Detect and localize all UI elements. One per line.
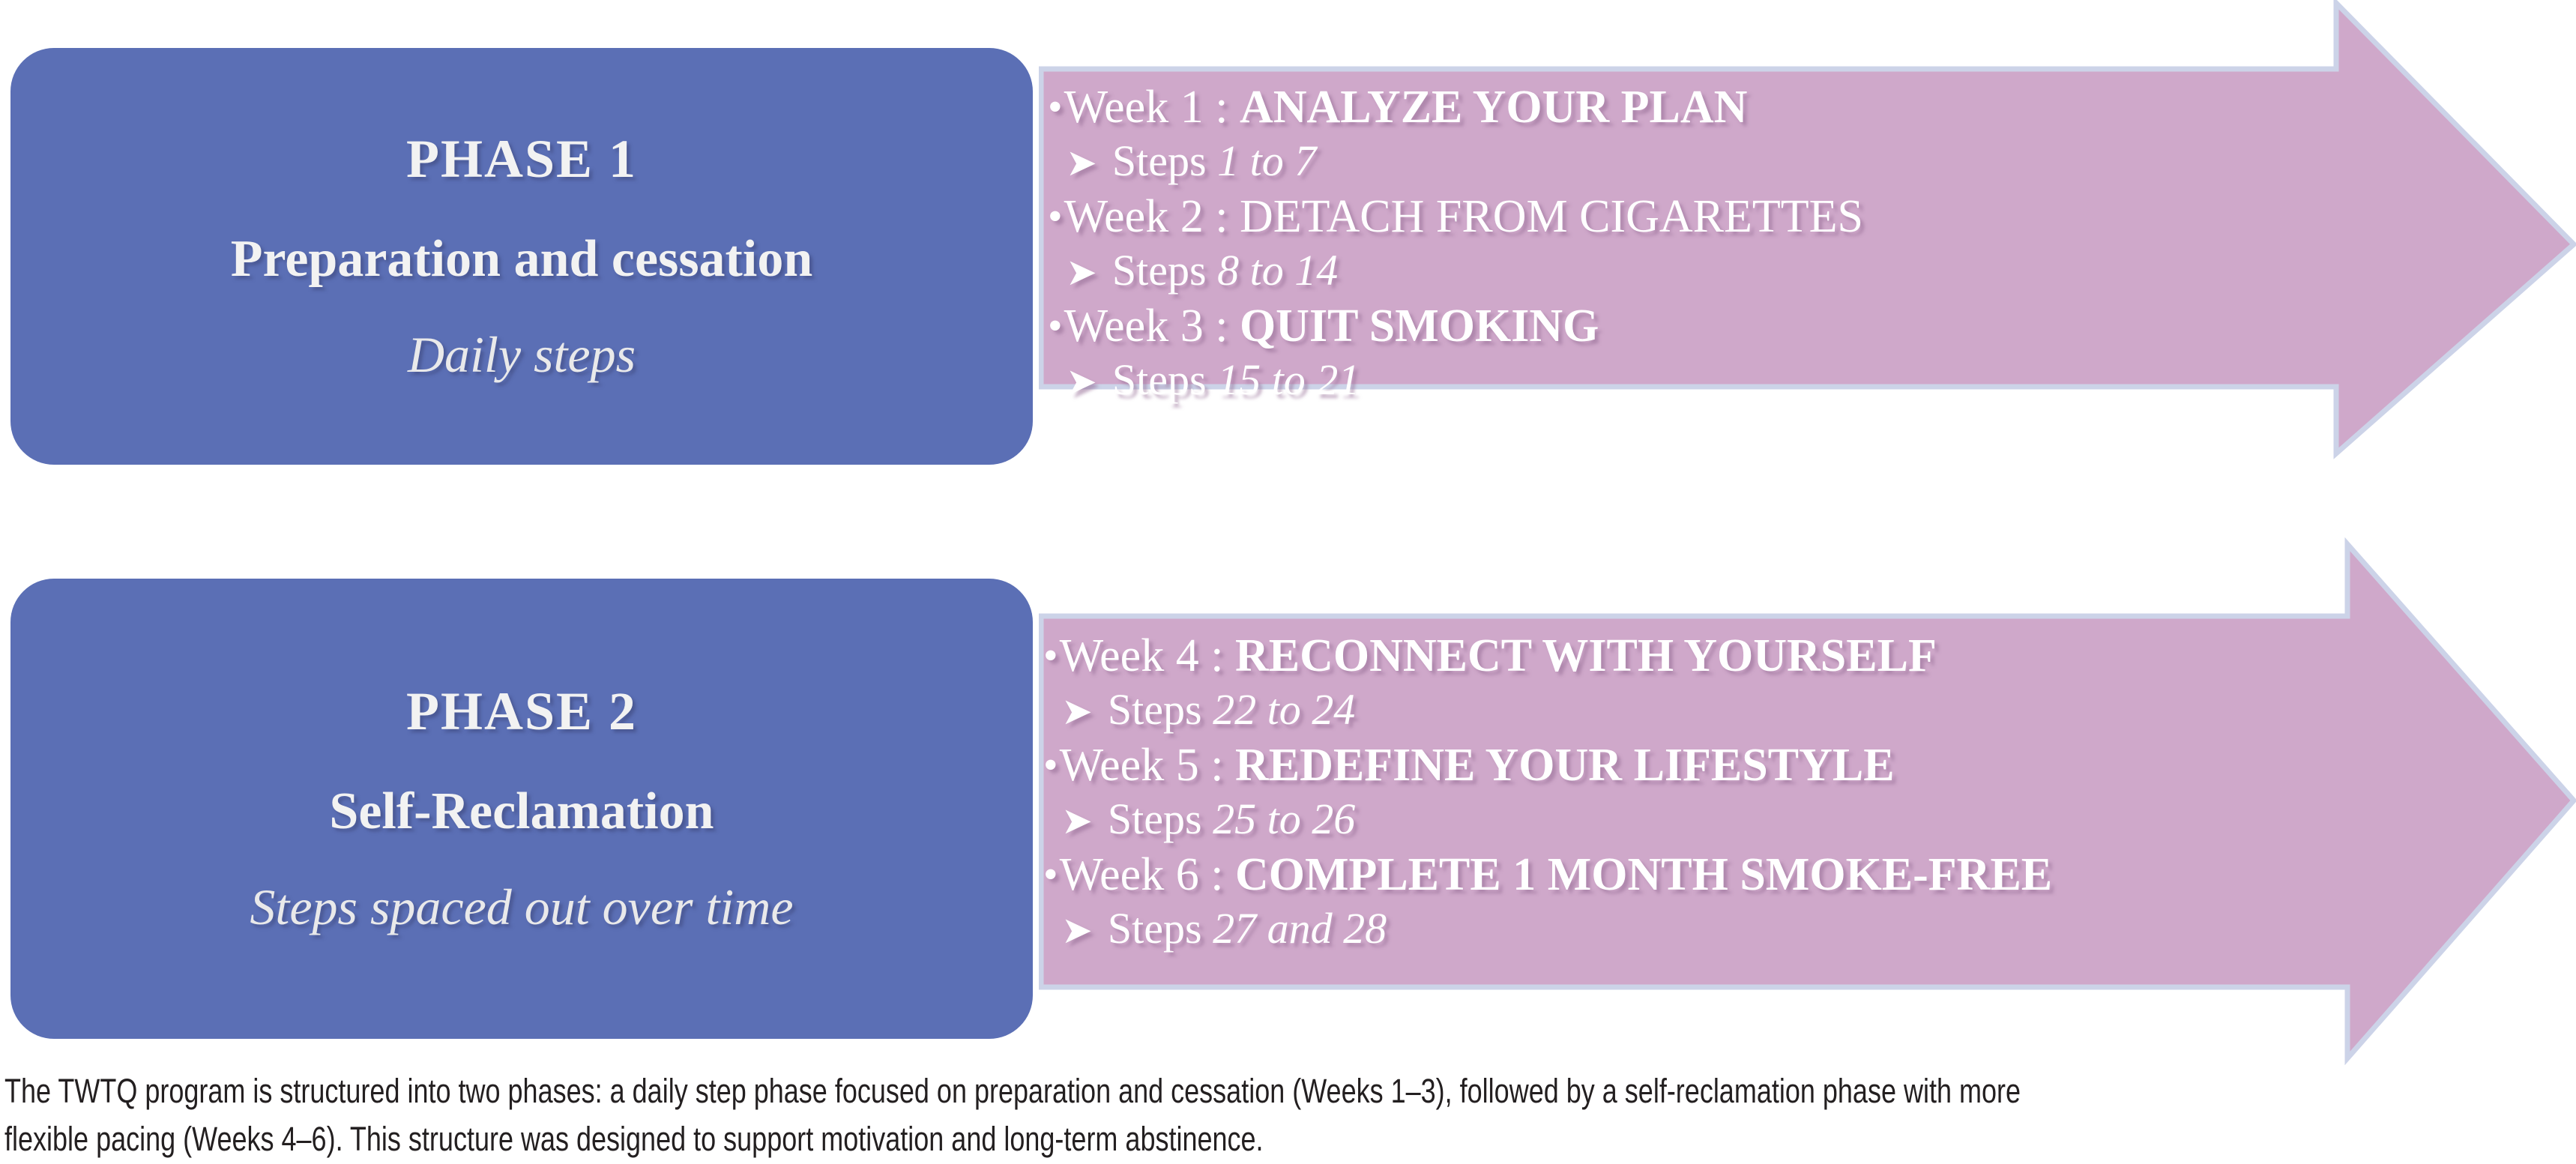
phase-1-box: PHASE 1 Preparation and cessation Daily … <box>10 48 1033 465</box>
week-item: •Week 6 : COMPLETE 1 MONTH SMOKE-FREE <box>1043 851 2347 898</box>
steps-prefix: Steps <box>1108 685 1213 734</box>
chevron-right-icon: ➤ <box>1061 800 1093 842</box>
week-title: QUIT SMOKING <box>1240 301 1599 352</box>
week-title: RECONNECT WITH YOURSELF <box>1235 630 1937 681</box>
steps-range: 8 to 14 <box>1217 246 1338 295</box>
bullet-icon: • <box>1048 303 1063 349</box>
steps-item: ➤Steps 25 to 26 <box>1043 797 2347 841</box>
week-item: •Week 1 : ANALYZE YOUR PLAN <box>1048 84 2322 130</box>
phase-1-subtitle: Preparation and cessation <box>231 230 813 289</box>
week-title: REDEFINE YOUR LIFESTYLE <box>1235 740 1895 791</box>
phase-2-note: Steps spaced out over time <box>250 878 793 935</box>
week-label: Week 1 : <box>1064 82 1240 133</box>
chevron-right-icon: ➤ <box>1066 361 1097 402</box>
bullet-icon: • <box>1043 633 1058 679</box>
week-item: •Week 5 : REDEFINE YOUR LIFESTYLE <box>1043 742 2347 788</box>
week-item: •Week 2 : DETACH FROM CIGARETTES <box>1048 193 2322 240</box>
phase-2-box: PHASE 2 Self-Reclamation Steps spaced ou… <box>10 579 1033 1039</box>
week-item: •Week 3 : QUIT SMOKING <box>1048 303 2322 349</box>
bullet-icon: • <box>1048 84 1063 130</box>
figure-caption: The TWTQ program is structured into two … <box>4 1067 2055 1163</box>
steps-prefix: Steps <box>1108 904 1213 953</box>
week-label: Week 4 : <box>1060 630 1235 681</box>
week-label: Week 3 : <box>1064 301 1240 352</box>
chevron-right-icon: ➤ <box>1061 690 1093 732</box>
steps-range: 25 to 26 <box>1213 794 1355 843</box>
week-title: ANALYZE YOUR PLAN <box>1240 82 1748 133</box>
steps-item: ➤Steps 22 to 24 <box>1043 688 2347 732</box>
steps-item: ➤Steps 15 to 21 <box>1048 358 2322 402</box>
steps-range: 1 to 7 <box>1217 136 1316 185</box>
steps-prefix: Steps <box>1112 246 1217 295</box>
week-label: Week 2 : <box>1064 191 1240 242</box>
steps-prefix: Steps <box>1108 794 1213 843</box>
phase-1-title: PHASE 1 <box>406 129 637 190</box>
steps-item: ➤Steps 8 to 14 <box>1048 249 2322 292</box>
steps-range: 27 and 28 <box>1213 904 1387 953</box>
bullet-icon: • <box>1043 742 1058 788</box>
steps-range: 22 to 24 <box>1213 685 1355 734</box>
phase-1-note: Daily steps <box>408 326 636 383</box>
bullet-icon: • <box>1048 193 1063 240</box>
steps-item: ➤Steps 27 and 28 <box>1043 907 2347 950</box>
week-title: COMPLETE 1 MONTH SMOKE-FREE <box>1235 849 2052 900</box>
week-label: Week 5 : <box>1060 740 1235 791</box>
steps-prefix: Steps <box>1112 136 1217 185</box>
week-item: •Week 4 : RECONNECT WITH YOURSELF <box>1043 633 2347 679</box>
steps-prefix: Steps <box>1112 355 1217 404</box>
week-title: DETACH FROM CIGARETTES <box>1240 191 1863 242</box>
steps-item: ➤Steps 1 to 7 <box>1048 139 2322 183</box>
phase-2-subtitle: Self-Reclamation <box>329 782 714 841</box>
phase-2-week-list: •Week 4 : RECONNECT WITH YOURSELF ➤Steps… <box>1043 633 2347 961</box>
chevron-right-icon: ➤ <box>1066 142 1097 184</box>
phase-2-title: PHASE 2 <box>406 681 637 742</box>
chevron-right-icon: ➤ <box>1061 909 1093 951</box>
steps-range: 15 to 21 <box>1217 355 1360 404</box>
phase-2-arrow: •Week 4 : RECONNECT WITH YOURSELF ➤Steps… <box>1039 537 2576 1066</box>
chevron-right-icon: ➤ <box>1066 251 1097 293</box>
phase-1-arrow: •Week 1 : ANALYZE YOUR PLAN ➤Steps 1 to … <box>1039 0 2576 489</box>
week-label: Week 6 : <box>1060 849 1235 900</box>
bullet-icon: • <box>1043 851 1058 898</box>
phase-1-week-list: •Week 1 : ANALYZE YOUR PLAN ➤Steps 1 to … <box>1048 84 2322 412</box>
